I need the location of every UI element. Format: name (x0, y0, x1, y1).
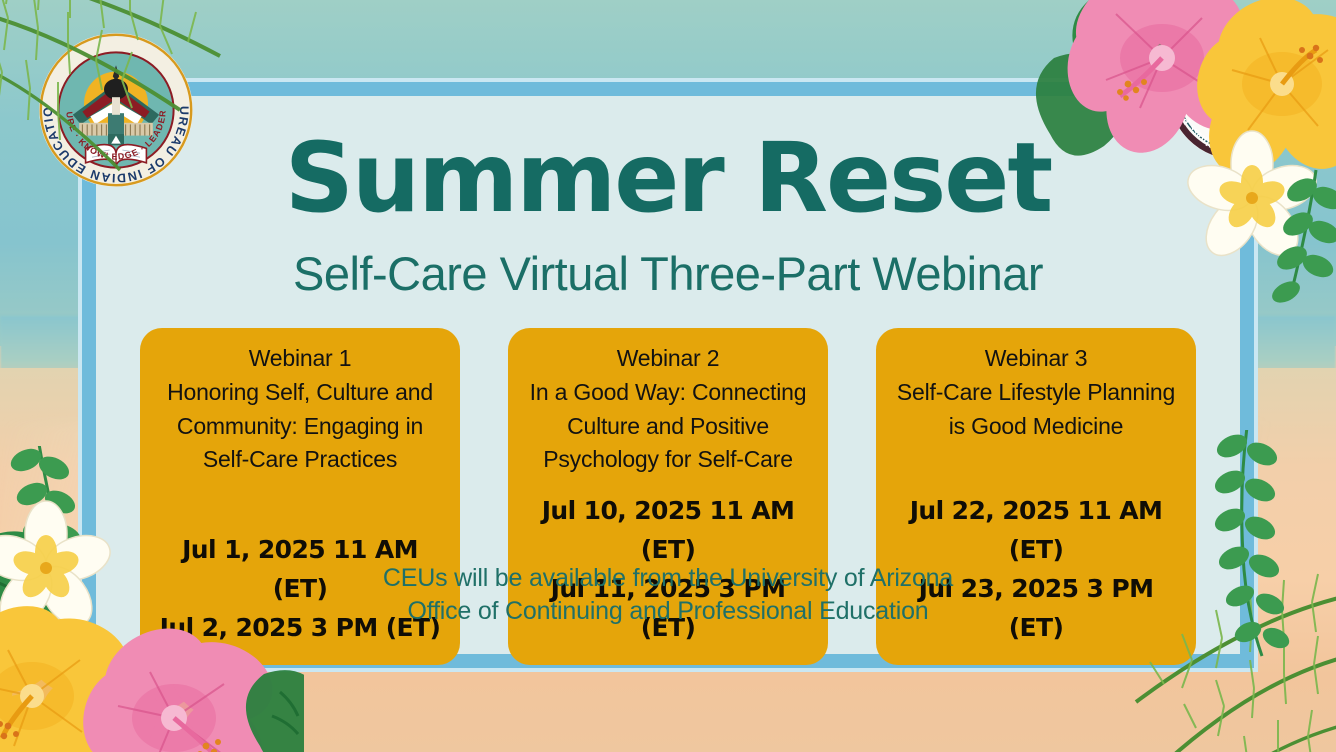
webinar-2-title: In a Good Way: Connecting Culture and Po… (520, 376, 816, 477)
webinar-3-label: Webinar 3 (888, 342, 1184, 376)
webinar-1-title: Honoring Self, Culture and Community: En… (152, 376, 448, 477)
webinar-2-label: Webinar 2 (520, 342, 816, 376)
webinar-3-title: Self-Care Lifestyle Planning is Good Med… (888, 376, 1184, 444)
card-spacer (888, 443, 1184, 491)
page-title: Summer Reset (96, 130, 1240, 226)
content-panel: Summer Reset Self-Care Virtual Three-Par… (78, 78, 1258, 672)
ceu-line-2: Office of Continuing and Professional Ed… (96, 595, 1240, 628)
card-spacer (520, 477, 816, 491)
ceu-line-1: CEUs will be available from the Universi… (96, 562, 1240, 595)
bureau-of-indian-education-seal-icon: BUREAU OF INDIAN EDUCATION CULTURE · KNO… (36, 30, 196, 190)
ceu-note: CEUs will be available from the Universi… (96, 562, 1240, 629)
webinar-2-date-1: Jul 10, 2025 11 AM (ET) (520, 491, 816, 569)
card-spacer (152, 477, 448, 530)
webinar-1-label: Webinar 1 (152, 342, 448, 376)
page-subtitle: Self-Care Virtual Three-Part Webinar (96, 248, 1240, 300)
webinar-3-date-1: Jul 22, 2025 11 AM (ET) (888, 491, 1184, 569)
behavioral-health-wellness-program-seal-icon: Behavioral Health & Wellness Program Bur… (1166, 20, 1308, 162)
